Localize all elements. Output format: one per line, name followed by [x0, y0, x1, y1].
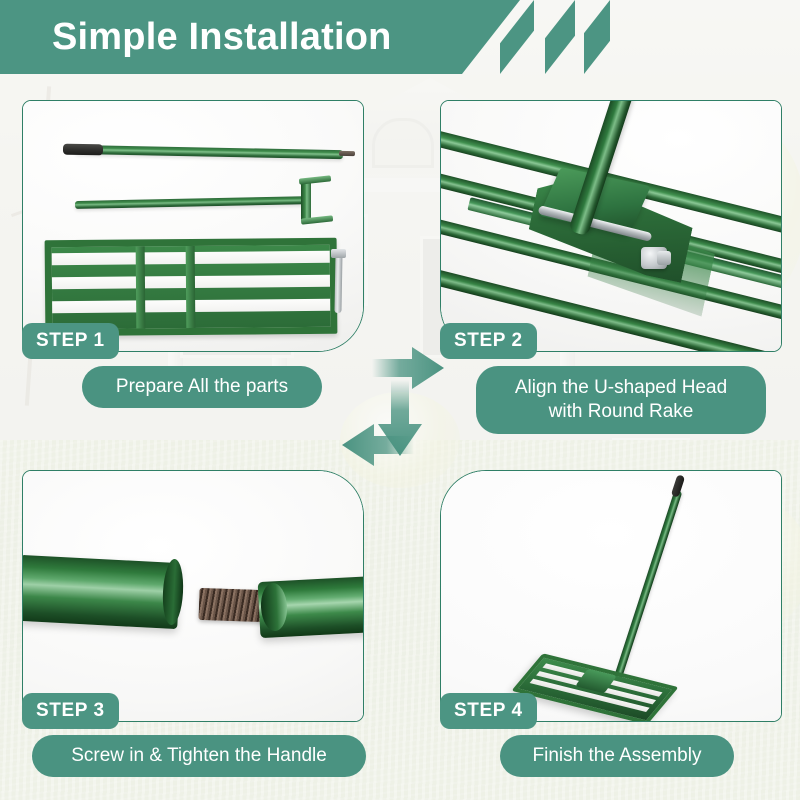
assembly-bolt-head [331, 249, 346, 258]
rake-handle-grip [63, 144, 103, 156]
step-2-photo [441, 101, 781, 351]
step-caption-2: Align the U-shaped Head with Round Rake [476, 366, 766, 434]
page-title: Simple Installation [52, 12, 392, 62]
handle-socket-tube [23, 555, 181, 629]
step-caption-2-line1: Align the U-shaped Head [515, 376, 727, 400]
step-1-photo [23, 101, 363, 351]
step-caption-2-line2: with Round Rake [515, 400, 727, 424]
u-shaped-head-stem [301, 179, 311, 221]
step-card-1 [22, 100, 364, 352]
threaded-stud [198, 588, 265, 622]
step-4-photo [441, 471, 781, 721]
step-card-4 [440, 470, 782, 722]
arrow-down-to-step3 [342, 424, 414, 466]
rake-handle-thread-tip [339, 151, 355, 156]
installation-infographic: Simple Installation [0, 0, 800, 800]
step-caption-1: Prepare All the parts [82, 366, 322, 408]
step-card-2 [440, 100, 782, 352]
step-caption-4: Finish the Assembly [500, 735, 734, 777]
step-card-3 [22, 470, 364, 722]
step-badge-3: STEP 3 [22, 693, 119, 729]
step-badge-1: STEP 1 [22, 323, 119, 359]
rake-grate-panel [45, 238, 338, 337]
hex-nut-inner [657, 251, 671, 265]
assembly-bolt [334, 253, 342, 313]
step-caption-3: Screw in & Tighten the Handle [32, 735, 366, 777]
step-3-photo [23, 471, 363, 721]
step-badge-2: STEP 2 [440, 323, 537, 359]
step-badge-4: STEP 4 [440, 693, 537, 729]
